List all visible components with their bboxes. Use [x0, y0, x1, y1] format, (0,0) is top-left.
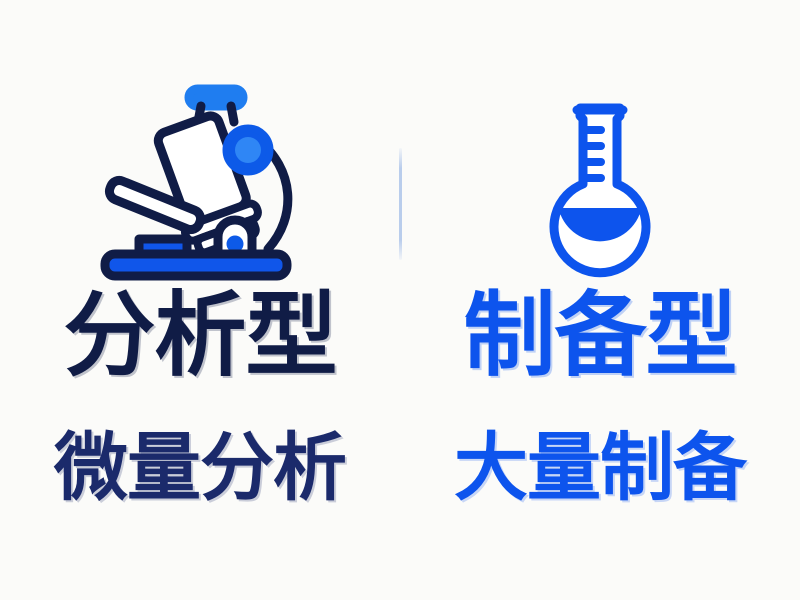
- analytical-icon-container: [30, 72, 370, 282]
- vertical-divider: [399, 148, 402, 260]
- analytical-title: 分析型: [0, 288, 400, 384]
- analytical-subtitle: 微量分析: [0, 428, 400, 508]
- microscope-icon: [85, 77, 315, 282]
- preparative-icon-container: [430, 72, 770, 282]
- preparative-title: 制备型: [400, 288, 800, 384]
- microscope-eyepiece: [189, 89, 243, 106]
- preparative-subtitle: 大量制备: [400, 428, 800, 508]
- analytical-text-column: 分析型 微量分析: [0, 288, 400, 508]
- poster-canvas: 分析型 微量分析 制备型 大量制备: [0, 0, 800, 600]
- flask-icon: [525, 92, 675, 282]
- preparative-text-column: 制备型 大量制备: [400, 288, 800, 508]
- microscope-base: [105, 254, 287, 276]
